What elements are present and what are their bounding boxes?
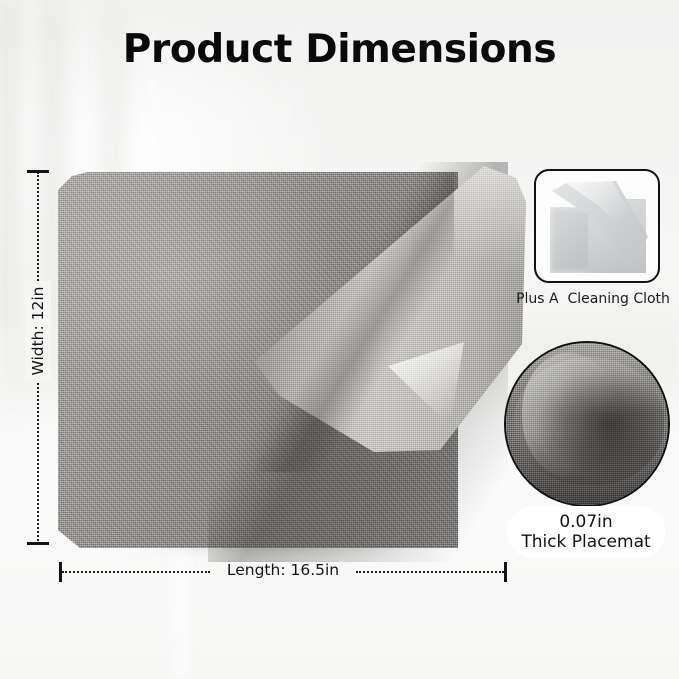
length-dotted-line-right (356, 571, 504, 573)
width-dimension-line: Width: 12in (27, 168, 49, 548)
thickness-description: Thick Placemat (521, 532, 650, 552)
product-dimensions-infographic: Product Dimensions Width: 12in Length: 1… (0, 0, 679, 679)
thickness-closeup-inset (504, 341, 670, 507)
thickness-top-highlight (506, 343, 668, 413)
placemat-image (58, 172, 528, 548)
width-label: Width: 12in (25, 281, 51, 381)
page-title: Product Dimensions (0, 27, 679, 72)
length-dimension-line: Length: 16.5in (58, 560, 508, 584)
width-cap-bottom (27, 542, 49, 545)
length-cap-right (504, 562, 507, 582)
length-label: Length: 16.5in (58, 561, 508, 579)
thickness-bottom-shadow (506, 433, 668, 505)
cleaning-cloth-caption: Plus A Cleaning Cloth (506, 291, 679, 307)
cleaning-cloth-inset (534, 169, 660, 283)
thickness-label-pill: 0.07in Thick Placemat (507, 506, 665, 558)
thickness-value: 0.07in (559, 512, 612, 532)
